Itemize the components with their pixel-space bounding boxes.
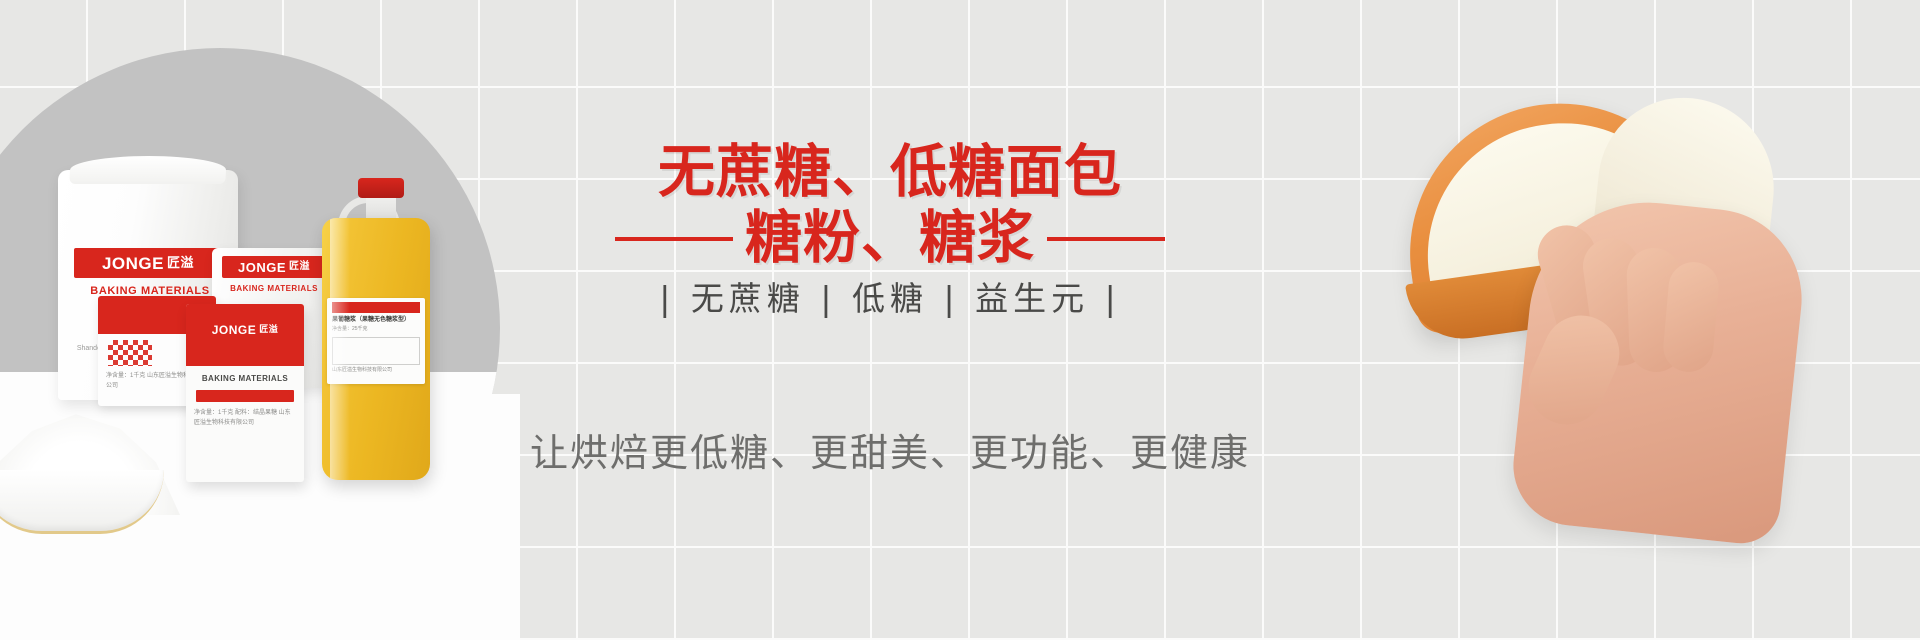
headline-line-2-row: 糖粉、糖浆	[560, 208, 1220, 270]
headline-line-1: 无蔗糖、低糖面包	[620, 142, 1160, 204]
promo-banner: JONGE匠溢 BAKING MATERIALS Shandong Jonge …	[0, 0, 1920, 640]
rule-left	[615, 237, 733, 241]
rule-right	[1047, 237, 1165, 241]
feature-subline: | 无蔗糖 | 低糖 | 益生元 |	[560, 272, 1220, 320]
tagline: 让烘焙更低糖、更甜美、更功能、更健康	[430, 422, 1350, 477]
banner-text-block: 无蔗糖、低糖面包 糖粉、糖浆 | 无蔗糖 | 低糖 | 益生元 | 让烘焙更低糖…	[0, 0, 1920, 640]
headline-line-2: 糖粉、糖浆	[745, 208, 1035, 270]
